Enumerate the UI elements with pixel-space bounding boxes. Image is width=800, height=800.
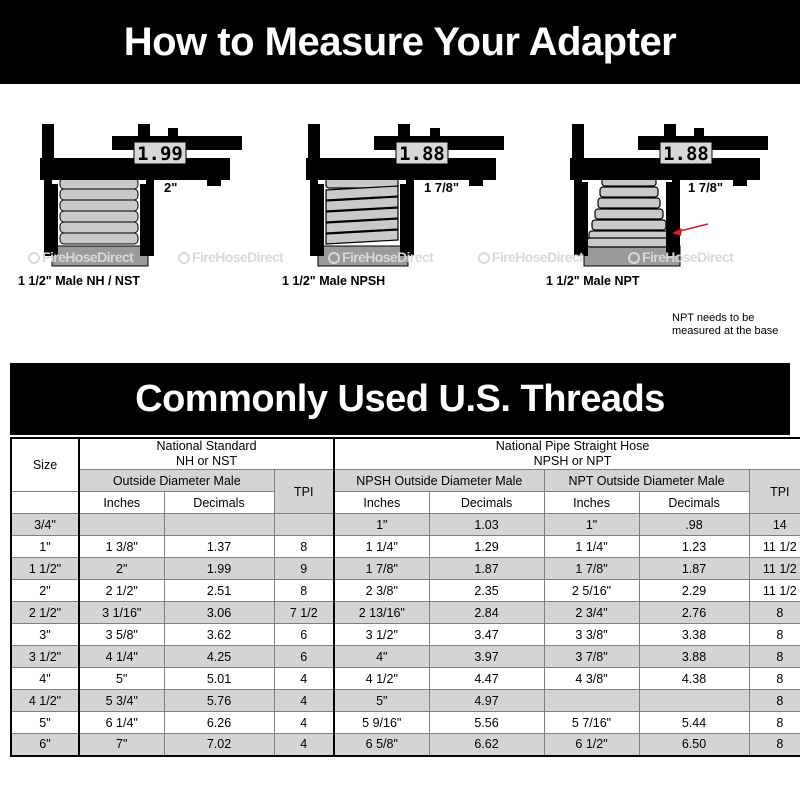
cell-nh-tpi: 8 — [274, 580, 334, 602]
cell-npt-decimals: 5.44 — [639, 712, 749, 734]
cell-nh-decimals: 1.99 — [164, 558, 274, 580]
header-size: Size — [11, 438, 79, 492]
cell-nh-inches: 2" — [79, 558, 164, 580]
page-title: How to Measure Your Adapter — [0, 0, 800, 84]
infographic-page: How to Measure Your Adapter — [0, 0, 800, 800]
cell-npt-tpi: 8 — [749, 646, 800, 668]
cell-npt-tpi: 11 1/2 — [749, 558, 800, 580]
diagram-caption-nh: 1 1/2" Male NH / NST — [18, 274, 140, 288]
cell-nh-tpi: 6 — [274, 646, 334, 668]
cell-npsh-decimals: 2.35 — [429, 580, 544, 602]
cell-npsh-inches: 3 1/2" — [334, 624, 429, 646]
reading-label-2: 1 7/8" — [424, 180, 459, 195]
header-npsh-inches: Inches — [334, 492, 429, 514]
table-row: 1"1 3/8"1.3781 1/4"1.291 1/4"1.2311 1/2 — [11, 536, 800, 558]
cell-npsh-decimals: 1.29 — [429, 536, 544, 558]
cell-npt-inches: 5 7/16" — [544, 712, 639, 734]
table-sub-header-row: Outside Diameter Male TPI NPSH Outside D… — [11, 470, 800, 492]
cell-size: 2 1/2" — [11, 602, 79, 624]
table-body: 3/4"1"1.031".98141"1 3/8"1.3781 1/4"1.29… — [11, 514, 800, 756]
cell-npsh-inches: 6 5/8" — [334, 734, 429, 756]
cell-size: 5" — [11, 712, 79, 734]
cell-nh-decimals: 7.02 — [164, 734, 274, 756]
cell-size: 4 1/2" — [11, 690, 79, 712]
cell-nh-inches: 6 1/4" — [79, 712, 164, 734]
cell-npt-decimals — [639, 690, 749, 712]
cell-nh-decimals: 5.76 — [164, 690, 274, 712]
cell-nh-inches — [79, 514, 164, 536]
header-npt-decimals: Decimals — [639, 492, 749, 514]
caliper-display-value-1: 1.99 — [137, 143, 183, 165]
cell-npt-inches: 1 1/4" — [544, 536, 639, 558]
cell-npt-tpi: 8 — [749, 712, 800, 734]
table-row: 3"3 5/8"3.6263 1/2"3.473 3/8"3.388 — [11, 624, 800, 646]
table-row: 3/4"1"1.031".9814 — [11, 514, 800, 536]
cell-npsh-decimals: 4.97 — [429, 690, 544, 712]
cell-npsh-decimals: 3.47 — [429, 624, 544, 646]
cell-npsh-inches: 4 1/2" — [334, 668, 429, 690]
header-npsh-od: NPSH Outside Diameter Male — [334, 470, 544, 492]
header-group-nh-line1: National Standard — [80, 439, 333, 454]
cell-size: 3 1/2" — [11, 646, 79, 668]
header-nh-tpi: TPI — [274, 470, 334, 514]
cell-npt-decimals: 2.76 — [639, 602, 749, 624]
cell-nh-inches: 4 1/4" — [79, 646, 164, 668]
cell-npsh-inches: 5 9/16" — [334, 712, 429, 734]
cell-npt-decimals: 2.29 — [639, 580, 749, 602]
cell-npsh-decimals: 1.87 — [429, 558, 544, 580]
cell-npt-inches: 2 3/4" — [544, 602, 639, 624]
cell-npt-inches — [544, 690, 639, 712]
cell-nh-tpi: 4 — [274, 734, 334, 756]
table-group-header-row: Size National Standard NH or NST Nationa… — [11, 438, 800, 470]
cell-npt-decimals: 3.88 — [639, 646, 749, 668]
cell-npsh-decimals: 3.97 — [429, 646, 544, 668]
header-group-npsh-line1: National Pipe Straight Hose — [335, 439, 800, 454]
table-row: 5"6 1/4"6.2645 9/16"5.565 7/16"5.448 — [11, 712, 800, 734]
reading-label-3: 1 7/8" — [688, 180, 723, 195]
cell-npsh-decimals: 1.03 — [429, 514, 544, 536]
diagram-npsh: 1.88 1 7/8" 1 1/2" Male NPSH — [276, 106, 532, 306]
cell-npsh-inches: 5" — [334, 690, 429, 712]
cell-nh-tpi: 4 — [274, 712, 334, 734]
header-group-npsh-npt: National Pipe Straight Hose NPSH or NPT — [334, 438, 800, 470]
cell-size: 6" — [11, 734, 79, 756]
header-group-nh: National Standard NH or NST — [79, 438, 334, 470]
header-nh-inches: Inches — [79, 492, 164, 514]
cell-npt-inches: 3 7/8" — [544, 646, 639, 668]
cell-nh-decimals: 3.62 — [164, 624, 274, 646]
table-row: 6"7"7.0246 5/8"6.626 1/2"6.508 — [11, 734, 800, 756]
cell-nh-decimals — [164, 514, 274, 536]
cell-npt-decimals: 3.38 — [639, 624, 749, 646]
cell-npsh-decimals: 5.56 — [429, 712, 544, 734]
table-row: 2"2 1/2"2.5182 3/8"2.352 5/16"2.2911 1/2 — [11, 580, 800, 602]
cell-npt-decimals: 4.38 — [639, 668, 749, 690]
cell-nh-tpi: 4 — [274, 668, 334, 690]
header-npt-tpi: TPI — [749, 470, 800, 514]
table-row: 4"5"5.0144 1/2"4.474 3/8"4.388 — [11, 668, 800, 690]
caliper-display-value-2: 1.88 — [399, 143, 445, 165]
table-row: 1 1/2"2"1.9991 7/8"1.871 7/8"1.8711 1/2 — [11, 558, 800, 580]
cell-nh-decimals: 5.01 — [164, 668, 274, 690]
cell-npt-tpi: 14 — [749, 514, 800, 536]
cell-nh-tpi: 9 — [274, 558, 334, 580]
npt-note-line-1: NPT needs to be — [672, 312, 778, 325]
cell-npt-tpi: 11 1/2 — [749, 536, 800, 558]
cell-nh-tpi: 4 — [274, 690, 334, 712]
cell-nh-decimals: 3.06 — [164, 602, 274, 624]
cell-npt-tpi: 8 — [749, 734, 800, 756]
cell-nh-inches: 5" — [79, 668, 164, 690]
cell-size: 3" — [11, 624, 79, 646]
cell-npsh-inches: 1 7/8" — [334, 558, 429, 580]
cell-nh-decimals: 6.26 — [164, 712, 274, 734]
cell-npt-inches: 1 7/8" — [544, 558, 639, 580]
header-npsh-decimals: Decimals — [429, 492, 544, 514]
cell-npt-inches: 4 3/8" — [544, 668, 639, 690]
cell-size: 4" — [11, 668, 79, 690]
cell-npsh-decimals: 6.62 — [429, 734, 544, 756]
cell-nh-inches: 7" — [79, 734, 164, 756]
cell-nh-inches: 1 3/8" — [79, 536, 164, 558]
header-group-nh-line2: NH or NST — [80, 454, 333, 469]
cell-nh-decimals: 2.51 — [164, 580, 274, 602]
npt-measurement-note: NPT needs to be measured at the base — [672, 312, 778, 338]
cell-size: 1" — [11, 536, 79, 558]
cell-size: 2" — [11, 580, 79, 602]
cell-npsh-inches: 1 1/4" — [334, 536, 429, 558]
caliper-diagrams-section: 1.99 2" 1 1/2" Male NH / NST — [0, 84, 800, 363]
thread-specs-table: Size National Standard NH or NST Nationa… — [10, 437, 800, 757]
diagram-caption-npt: 1 1/2" Male NPT — [546, 274, 639, 288]
cell-npt-tpi: 11 1/2 — [749, 580, 800, 602]
cell-nh-decimals: 4.25 — [164, 646, 274, 668]
diagram-caption-npsh: 1 1/2" Male NPSH — [282, 274, 385, 288]
cell-size: 1 1/2" — [11, 558, 79, 580]
cell-npsh-decimals: 2.84 — [429, 602, 544, 624]
cell-npsh-inches: 1" — [334, 514, 429, 536]
cell-nh-inches: 3 1/16" — [79, 602, 164, 624]
section-title: Commonly Used U.S. Threads — [10, 363, 790, 435]
cell-npt-decimals: 6.50 — [639, 734, 749, 756]
cell-npt-tpi: 8 — [749, 624, 800, 646]
cell-npt-inches: 6 1/2" — [544, 734, 639, 756]
diagram-npt: 1.88 1 7/8" 1 1/2" Male NPT — [540, 106, 796, 306]
cell-npt-inches: 2 5/16" — [544, 580, 639, 602]
header-nh-decimals: Decimals — [164, 492, 274, 514]
table-row: 4 1/2"5 3/4"5.7645"4.978 — [11, 690, 800, 712]
cell-nh-tpi — [274, 514, 334, 536]
cell-npt-tpi: 8 — [749, 668, 800, 690]
cell-nh-inches: 2 1/2" — [79, 580, 164, 602]
cell-npt-tpi: 8 — [749, 690, 800, 712]
cell-npsh-inches: 4" — [334, 646, 429, 668]
header-npt-inches: Inches — [544, 492, 639, 514]
cell-nh-inches: 5 3/4" — [79, 690, 164, 712]
cell-npsh-inches: 2 13/16" — [334, 602, 429, 624]
table-row: 2 1/2"3 1/16"3.067 1/22 13/16"2.842 3/4"… — [11, 602, 800, 624]
cell-npt-decimals: .98 — [639, 514, 749, 536]
header-npt-od: NPT Outside Diameter Male — [544, 470, 749, 492]
table-unit-header-row: Inches Decimals Inches Decimals Inches D… — [11, 492, 800, 514]
header-size-blank — [11, 492, 79, 514]
cell-nh-tpi: 7 1/2 — [274, 602, 334, 624]
cell-npt-tpi: 8 — [749, 602, 800, 624]
cell-nh-tpi: 8 — [274, 536, 334, 558]
cell-size: 3/4" — [11, 514, 79, 536]
cell-nh-decimals: 1.37 — [164, 536, 274, 558]
diagram-nh-nst: 1.99 2" 1 1/2" Male NH / NST — [12, 106, 268, 306]
cell-npt-inches: 3 3/8" — [544, 624, 639, 646]
cell-npsh-decimals: 4.47 — [429, 668, 544, 690]
cell-npsh-inches: 2 3/8" — [334, 580, 429, 602]
cell-npt-inches: 1" — [544, 514, 639, 536]
table-row: 3 1/2"4 1/4"4.2564"3.973 7/8"3.888 — [11, 646, 800, 668]
cell-nh-inches: 3 5/8" — [79, 624, 164, 646]
cell-nh-tpi: 6 — [274, 624, 334, 646]
npt-note-line-2: measured at the base — [672, 325, 778, 338]
cell-npt-decimals: 1.23 — [639, 536, 749, 558]
caliper-display-value-3: 1.88 — [663, 143, 709, 165]
cell-npt-decimals: 1.87 — [639, 558, 749, 580]
reading-label-1: 2" — [164, 180, 177, 195]
header-nh-od: Outside Diameter Male — [79, 470, 274, 492]
header-group-npsh-line2: NPSH or NPT — [335, 454, 800, 469]
